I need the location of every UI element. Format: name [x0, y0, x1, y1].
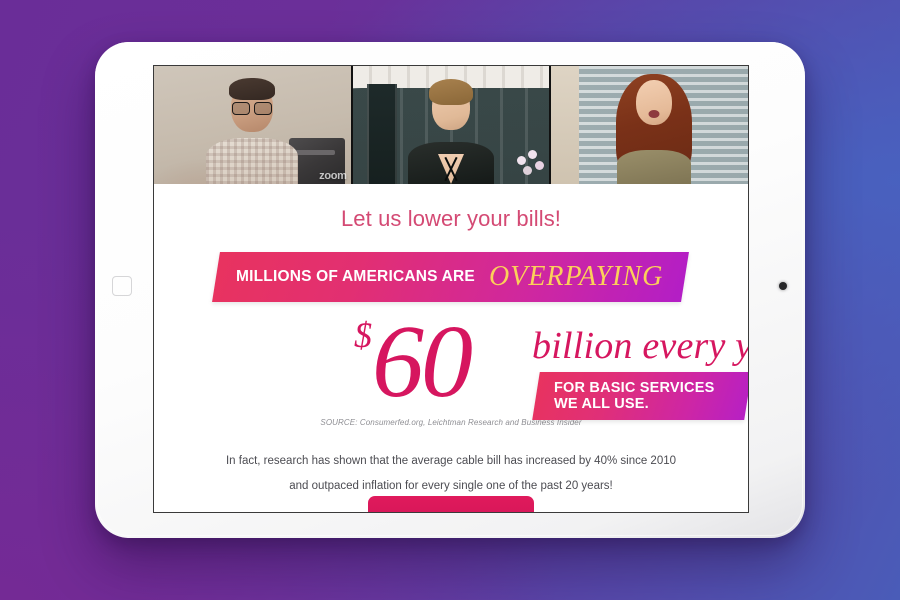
- overpaying-banner-accent: OVERPAYING: [489, 261, 663, 293]
- overpaying-banner: MILLIONS OF AMERICANS AREOVERPAYING: [212, 252, 689, 302]
- amount-value: 60: [372, 304, 470, 419]
- tablet-screen: zoom: [153, 65, 749, 513]
- video-tile-participant-3[interactable]: [551, 66, 748, 184]
- front-camera-icon: [779, 282, 787, 290]
- video-tile-participant-1[interactable]: zoom: [154, 66, 351, 184]
- cta-button[interactable]: [368, 496, 534, 513]
- tablet-device: zoom: [95, 42, 805, 538]
- basic-services-banner: FOR BASIC SERVICES WE ALL USE.: [532, 372, 749, 420]
- amount-unit: billion every year: [532, 324, 749, 368]
- home-button[interactable]: [112, 276, 132, 296]
- video-call-strip: zoom: [154, 66, 748, 184]
- big-amount: $60: [354, 302, 470, 421]
- overpaying-banner-lead: MILLIONS OF AMERICANS ARE: [236, 268, 475, 286]
- overpaying-banner-wrapper: MILLIONS OF AMERICANS AREOVERPAYING: [154, 252, 748, 302]
- participant-3-body: [617, 150, 691, 184]
- flower-vase: [515, 150, 547, 184]
- video-tile-participant-2[interactable]: [353, 66, 550, 184]
- participant-2-hair: [429, 79, 473, 105]
- side-wall: [551, 66, 579, 184]
- participant-2-body: [408, 142, 494, 184]
- participant-1-body: [206, 138, 298, 184]
- participant-3-head: [636, 80, 672, 125]
- page-headline: Let us lower your bills!: [154, 206, 748, 232]
- participant-1-hair: [229, 78, 275, 100]
- eyeglasses-icon: [232, 102, 272, 113]
- basic-services-banner-text: FOR BASIC SERVICES WE ALL USE.: [554, 380, 728, 412]
- figure-row: $60 billion every year FOR BASIC SERVICE…: [154, 308, 748, 414]
- zoom-watermark: zoom: [319, 170, 347, 182]
- landing-page-content: Let us lower your bills! MILLIONS OF AME…: [154, 184, 748, 512]
- participant-3-mouth: [648, 110, 659, 118]
- body-copy: In fact, research has shown that the ave…: [216, 449, 686, 498]
- door-frame: [367, 84, 397, 184]
- currency-symbol: $: [354, 315, 372, 355]
